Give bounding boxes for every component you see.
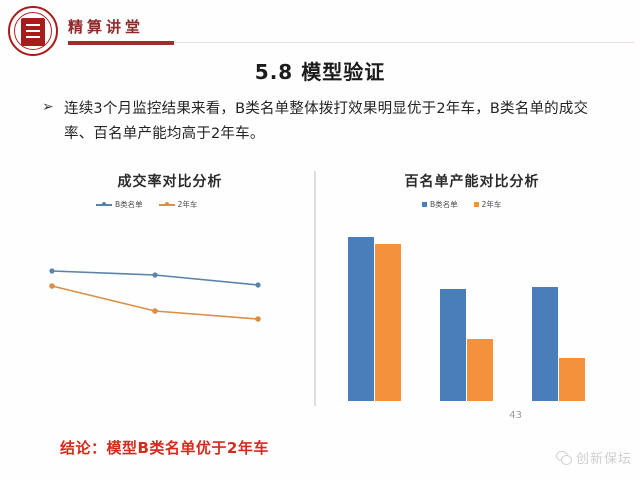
legend-label-b-list: B类名单 — [115, 199, 143, 210]
slide-canvas: 精算讲堂 5.8 模型验证 ➢ 连续3个月监控结果来看，B类名单整体拨打效果明显… — [0, 0, 640, 480]
bar-group-1 — [348, 223, 403, 401]
legend-swatch-2y-bar — [474, 202, 479, 207]
bar-group-3 — [532, 223, 587, 401]
line-chart-title: 成交率对比分析 — [30, 171, 310, 191]
seal-core — [21, 18, 45, 46]
bar-chart: 百名单产能对比分析 B类名单 2年车 — [322, 165, 640, 410]
page-title: 5.8 模型验证 — [0, 56, 640, 85]
bullet-block: ➢ 连续3个月监控结果来看，B类名单整体拨打效果明显优于2年车，B类名单的成交率… — [42, 97, 602, 147]
brand-underline-faint — [174, 42, 634, 43]
wechat-icon — [556, 451, 571, 464]
line-series-2y — [52, 286, 258, 319]
legend-label-b-list-bar: B类名单 — [430, 199, 458, 210]
watermark-label: 创新保坛 — [576, 448, 632, 467]
bar-b-list-3 — [532, 287, 558, 401]
brand-underline — [68, 41, 174, 45]
bar-2y-2 — [467, 339, 493, 401]
legend-item-2y: 2年车 — [159, 199, 198, 210]
chart-divider — [314, 171, 316, 406]
legend-item-b-list-bar: B类名单 — [422, 199, 458, 210]
wechat-bubble-front — [561, 455, 572, 465]
bar-2y-3 — [559, 358, 585, 401]
charts-area: 成交率对比分析 B类名单 2年车 — [0, 165, 640, 410]
legend-swatch-b-list-bar — [422, 202, 427, 207]
bar-b-list-1 — [348, 237, 374, 401]
conclusion-text: 结论：模型B类名单优于2年车 — [60, 437, 269, 458]
bar-chart-title: 百名单产能对比分析 — [322, 171, 622, 191]
legend-label-2y: 2年车 — [178, 199, 198, 210]
legend-swatch-b-list — [96, 204, 112, 206]
line-chart-plot — [42, 223, 298, 373]
bullet-text: 连续3个月监控结果来看，B类名单整体拨打效果明显优于2年车，B类名单的成交率、百… — [64, 97, 602, 147]
seal-logo-icon — [8, 6, 58, 56]
watermark: 创新保坛 — [556, 448, 632, 467]
bullet-arrow-icon: ➢ — [42, 99, 54, 115]
bar-2y-1 — [375, 244, 401, 401]
bar-chart-plot — [344, 223, 624, 401]
bar-b-list-2 — [440, 289, 466, 401]
slide-header: 精算讲堂 — [0, 0, 640, 54]
legend-label-2y-bar: 2年车 — [482, 199, 502, 210]
bar-chart-legend: B类名单 2年车 — [422, 199, 501, 210]
bar-group-2 — [440, 223, 495, 401]
line-chart: 成交率对比分析 B类名单 2年车 — [30, 165, 310, 410]
legend-item-b-list: B类名单 — [96, 199, 143, 210]
legend-item-2y-bar: 2年车 — [474, 199, 502, 210]
line-markers-b-list — [49, 268, 260, 287]
line-chart-legend: B类名单 2年车 — [96, 199, 197, 210]
page-number: 43 — [509, 410, 522, 421]
legend-swatch-2y — [159, 204, 175, 206]
brand-title: 精算讲堂 — [68, 16, 144, 37]
